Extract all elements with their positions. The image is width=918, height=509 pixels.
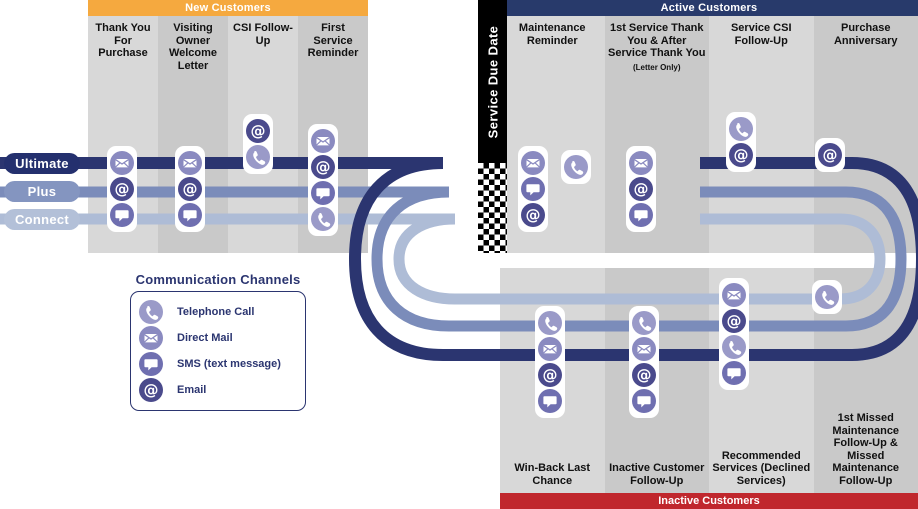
telephone-icon	[538, 311, 562, 335]
direct-mail-icon	[311, 129, 335, 153]
direct-mail-icon	[139, 326, 163, 350]
svg-text:@: @	[251, 122, 266, 140]
sms-icon	[110, 203, 134, 227]
direct-mail-icon	[722, 283, 746, 307]
legend-item-sms: SMS (text message)	[139, 351, 295, 377]
tier-label-connect: Connect	[15, 212, 69, 227]
legend-item-direct-mail: Direct Mail	[139, 325, 295, 351]
touchpoint-np-csi-follow-up[interactable]: @	[243, 114, 273, 174]
touchpoint-np-thank-you-for-purchase[interactable]: @	[107, 146, 137, 232]
ribbon-flow-lines	[0, 0, 918, 509]
sms-icon	[139, 352, 163, 376]
svg-text:@: @	[634, 180, 649, 198]
svg-text:@: @	[183, 180, 198, 198]
telephone-icon	[815, 285, 839, 309]
touchpoint-np-first-service-reminder[interactable]: @	[308, 124, 338, 236]
touchpoint-ip-win-back-last-chance[interactable]: @	[535, 306, 565, 418]
communication-channels-legend: Communication Channels Telephone CallDir…	[130, 272, 306, 411]
direct-mail-icon	[178, 151, 202, 175]
telephone-icon	[311, 207, 335, 231]
touchpoint-ip-inactive-customer-follow-up[interactable]: @	[629, 306, 659, 418]
tier-pill-plus[interactable]: Plus	[4, 181, 80, 202]
email-icon: @	[521, 203, 545, 227]
svg-text:@: @	[115, 180, 130, 198]
touchpoint-ap-maintenance-reminder[interactable]: @	[518, 146, 548, 232]
legend-item-email: @Email	[139, 377, 295, 403]
legend-box: Telephone CallDirect MailSMS (text messa…	[130, 291, 306, 411]
touchpoint-ap-first-service-thank-you-letter[interactable]	[561, 150, 591, 184]
sms-icon	[521, 177, 545, 201]
legend-title: Communication Channels	[130, 272, 306, 287]
svg-text:@: @	[727, 312, 742, 330]
tier-pill-connect[interactable]: Connect	[4, 209, 80, 230]
email-icon: @	[246, 119, 270, 143]
svg-text:@: @	[543, 366, 558, 384]
email-icon: @	[818, 143, 842, 167]
direct-mail-icon	[538, 337, 562, 361]
email-icon: @	[538, 363, 562, 387]
telephone-icon	[564, 155, 588, 179]
email-icon: @	[729, 143, 753, 167]
service-due-date-label: Service Due Date	[485, 25, 500, 138]
telephone-icon	[632, 311, 656, 335]
legend-label-telephone: Telephone Call	[177, 306, 254, 318]
tier-pill-ultimate[interactable]: Ultimate	[4, 153, 80, 174]
touchpoint-ip-recommended-services[interactable]: @	[719, 278, 749, 390]
svg-text:@: @	[823, 146, 838, 164]
telephone-icon	[722, 335, 746, 359]
service-due-date-bar: Service Due Date	[478, 0, 507, 163]
svg-text:@: @	[526, 206, 541, 224]
telephone-icon	[246, 145, 270, 169]
email-icon: @	[139, 378, 163, 402]
touchpoint-ap-purchase-anniversary[interactable]: @	[815, 138, 845, 172]
direct-mail-icon	[110, 151, 134, 175]
sms-icon	[538, 389, 562, 413]
email-icon: @	[178, 177, 202, 201]
email-icon: @	[632, 363, 656, 387]
sms-icon	[632, 389, 656, 413]
svg-text:@: @	[316, 158, 331, 176]
touchpoint-ap-first-service-thank-you[interactable]: @	[626, 146, 656, 232]
sms-icon	[178, 203, 202, 227]
legend-label-direct-mail: Direct Mail	[177, 332, 233, 344]
email-icon: @	[311, 155, 335, 179]
sms-icon	[629, 203, 653, 227]
sms-icon	[722, 361, 746, 385]
sms-icon	[311, 181, 335, 205]
touchpoint-ip-missed-maintenance-follow-up[interactable]	[812, 280, 842, 314]
checkered-flag-pattern	[478, 163, 507, 253]
svg-text:@: @	[637, 366, 652, 384]
legend-item-telephone: Telephone Call	[139, 299, 295, 325]
direct-mail-icon	[632, 337, 656, 361]
email-icon: @	[722, 309, 746, 333]
email-icon: @	[629, 177, 653, 201]
telephone-icon	[729, 117, 753, 141]
email-icon: @	[110, 177, 134, 201]
svg-text:@: @	[144, 381, 159, 399]
touchpoint-np-visiting-owner-welcome-letter[interactable]: @	[175, 146, 205, 232]
telephone-icon	[139, 300, 163, 324]
svg-text:@: @	[734, 146, 749, 164]
touchpoint-ap-service-csi-follow-up[interactable]: @	[726, 112, 756, 172]
tier-label-plus: Plus	[28, 184, 57, 199]
direct-mail-icon	[521, 151, 545, 175]
tier-label-ultimate: Ultimate	[15, 156, 69, 171]
legend-label-email: Email	[177, 384, 206, 396]
legend-label-sms: SMS (text message)	[177, 358, 281, 370]
direct-mail-icon	[629, 151, 653, 175]
